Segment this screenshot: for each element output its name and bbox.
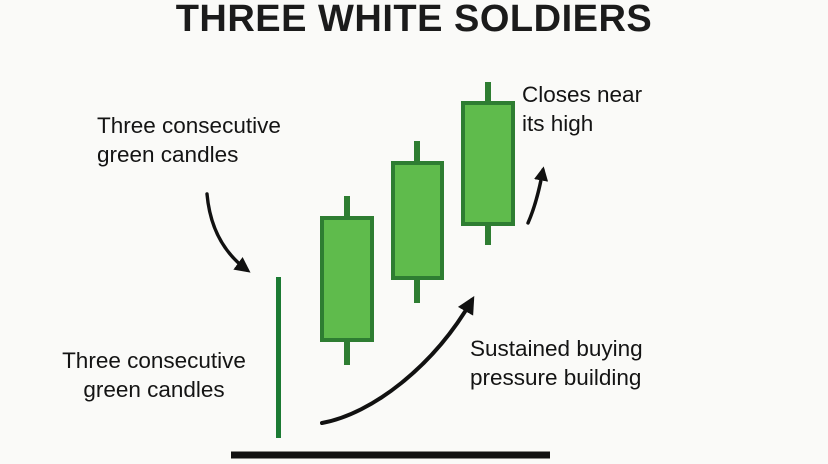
annotation-closes-near-its-high: Closes near its high [522, 81, 702, 139]
diagram-canvas: THREE WHITE SOLDIERS [0, 0, 828, 464]
pointer-to-candles-arrow [207, 194, 247, 270]
candle-1-body [322, 218, 372, 340]
candle-3 [463, 82, 513, 245]
candle-2-body [393, 163, 442, 278]
candle-2 [393, 141, 442, 303]
candle-1 [322, 196, 372, 365]
annotation-three-consecutive-green-candles-top: Three consecutive green candles [97, 112, 397, 170]
annotation-sustained-buying-pressure: Sustained buying pressure building [470, 335, 700, 393]
annotation-three-consecutive-green-candles-bottom: Three consecutive green candles [56, 347, 252, 405]
candle-3-body [463, 103, 513, 224]
pointer-to-close-arrow [528, 170, 543, 223]
